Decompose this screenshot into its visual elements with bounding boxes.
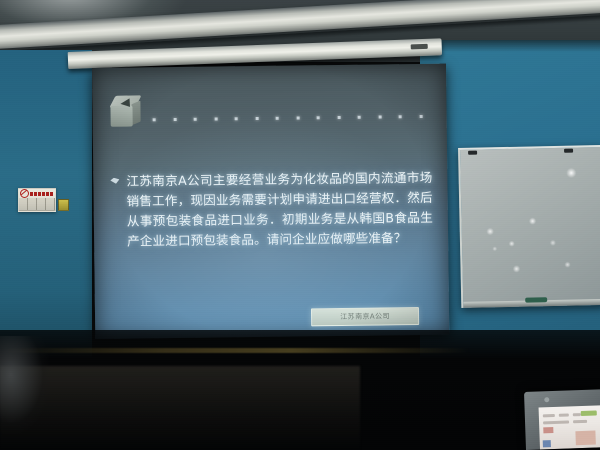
dotted-divider xyxy=(153,114,423,122)
projection-screen: 江苏南京A公司主要经营业务为化妆品的国内流通市场销售工作，现因业务需要计划申请进… xyxy=(92,64,449,339)
housing-knob-icon xyxy=(411,44,428,50)
slide-bullet: 江苏南京A公司主要经营业务为化妆品的国内流通市场销售工作，现因业务需要计划申请进… xyxy=(110,168,433,252)
whiteboard-clip-icon xyxy=(564,149,573,153)
laptop-camera-icon xyxy=(544,397,549,402)
laptop-ui-image-block xyxy=(575,431,595,446)
no-smoking-sign xyxy=(18,188,56,212)
3d-box-icon xyxy=(110,95,144,129)
whiteboard-clip-icon xyxy=(468,151,477,155)
slide-footer-text: 江苏南京A公司 xyxy=(340,311,390,322)
sign-grid xyxy=(19,198,55,210)
whiteboard xyxy=(458,145,600,308)
no-smoking-icon xyxy=(20,189,29,198)
whiteboard-glare xyxy=(460,147,600,308)
slide-bullet-text: 江苏南京A公司主要经营业务为化妆品的国内流通市场销售工作，现因业务需要计划申请进… xyxy=(126,168,433,252)
laptop-ui-blue-block xyxy=(543,440,551,447)
desk-edge xyxy=(0,348,470,353)
wall-right-shadow xyxy=(420,40,600,52)
laptop-screen xyxy=(539,405,600,449)
sign-title-text xyxy=(30,192,53,196)
wall-badge xyxy=(58,199,69,211)
sign-header xyxy=(19,189,55,198)
chair-silhouette xyxy=(0,336,64,450)
laptop[interactable] xyxy=(524,389,600,450)
laptop-ui-red-block xyxy=(543,427,553,433)
slide-footer-label: 江苏南京A公司 xyxy=(311,307,419,326)
marker-pen-icon xyxy=(525,297,547,302)
bullet-marker-icon xyxy=(110,178,119,184)
classroom-scene: 江苏南京A公司主要经营业务为化妆品的国内流通市场销售工作，现因业务需要计划申请进… xyxy=(0,0,600,450)
laptop-ui-green-block xyxy=(581,410,597,416)
foreground-dark-area xyxy=(0,330,600,450)
